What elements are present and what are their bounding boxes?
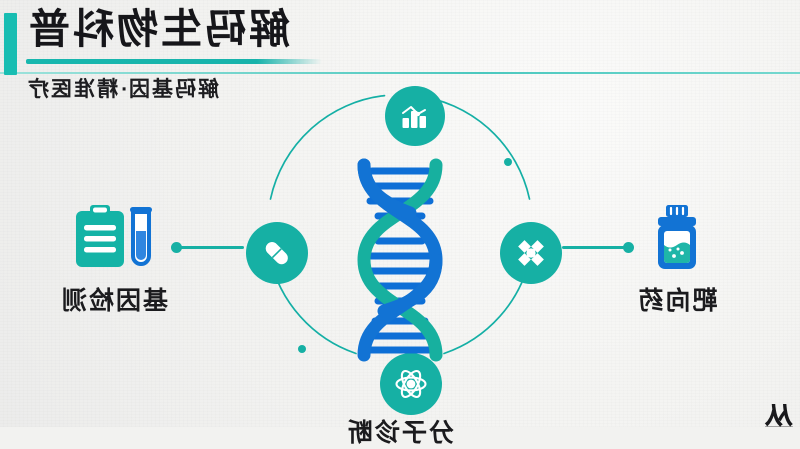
item-right[interactable]: 基因检测: [34, 203, 194, 317]
item-right-label: 基因检测: [34, 281, 194, 317]
ring-dot-lower-right: [298, 345, 306, 353]
title-underline-accent: [26, 59, 322, 64]
ring-node-right[interactable]: [246, 222, 308, 284]
atom-orbit-icon: [393, 366, 429, 402]
poster-canvas: 解码生物科普 解码基因·精准医疗: [0, 0, 800, 427]
test-tube-clipboard-icon: [68, 203, 160, 273]
edge-accent-bar: [4, 13, 17, 75]
medicine-bottle-icon: [646, 203, 708, 273]
item-bottom[interactable]: 分子诊断: [300, 405, 500, 449]
ring-dot-upper-left: [504, 158, 512, 166]
item-bottom-label: 分子诊断: [300, 413, 500, 449]
capsule-pill-icon: [260, 236, 294, 270]
corner-glyph: 丛: [764, 404, 794, 427]
ring-node-top[interactable]: [385, 86, 445, 146]
page-title: 解码生物科普: [26, 6, 322, 53]
item-left[interactable]: 靶向药: [612, 203, 742, 317]
title-block: 解码生物科普 解码基因·精准医疗: [26, 6, 322, 103]
ring-node-left[interactable]: [500, 222, 562, 284]
molecule-network-icon: [514, 236, 548, 270]
dna-double-helix-icon: [320, 155, 480, 365]
bar-chart-trend-icon: [398, 99, 432, 133]
item-left-label: 靶向药: [612, 281, 742, 317]
page-subtitle: 解码基因·精准医疗: [26, 73, 322, 103]
